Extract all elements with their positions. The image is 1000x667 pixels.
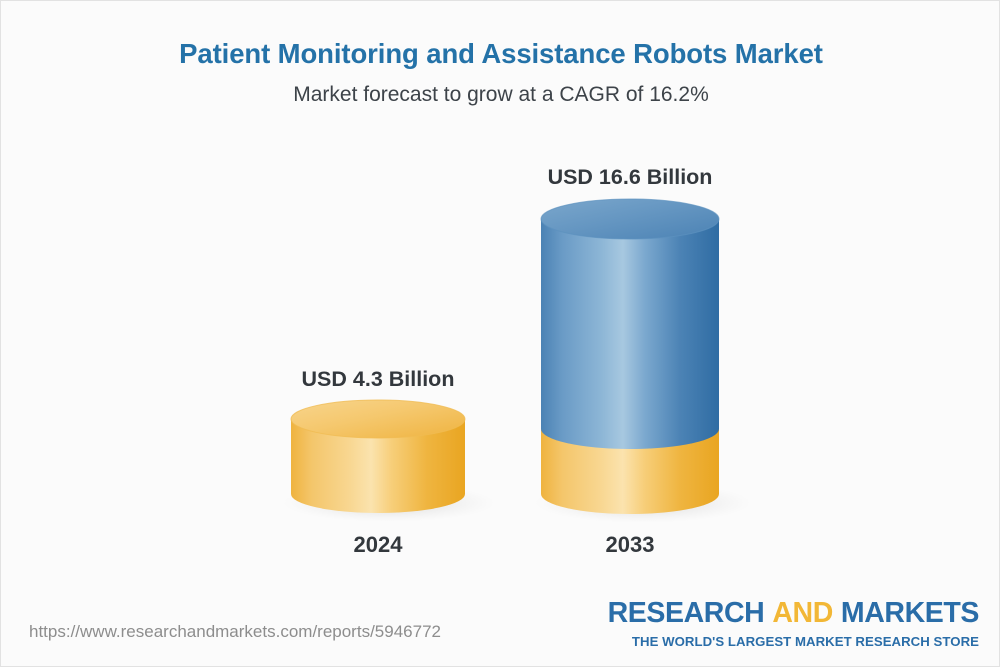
bar-cylinder-2024	[271, 401, 501, 536]
category-label-2024: 2024	[233, 534, 523, 556]
research-and-markets-logo[interactable]: RESEARCHANDMARKETS THE WORLD'S LARGEST M…	[608, 599, 979, 648]
logo-word-markets: MARKETS	[841, 597, 979, 629]
bar-value-label-2024: USD 4.3 Billion	[233, 369, 523, 391]
logo-tagline: THE WORLD'S LARGEST MARKET RESEARCH STOR…	[608, 635, 979, 648]
logo-word-and: AND	[772, 597, 833, 629]
bar-value-label-2033: USD 16.6 Billion	[485, 167, 775, 189]
infographic-card: Patient Monitoring and Assistance Robots…	[0, 0, 1000, 667]
report-url[interactable]: https://www.researchandmarkets.com/repor…	[29, 623, 441, 640]
chart-plot-area: USD 16.6 Billion USD 4.3 Billion	[1, 1, 1000, 667]
logo-word-research: RESEARCH	[608, 597, 765, 629]
bar-cylinder-2033	[521, 191, 751, 536]
logo-wordmark: RESEARCHANDMARKETS	[608, 599, 979, 628]
category-label-2033: 2033	[485, 534, 775, 556]
